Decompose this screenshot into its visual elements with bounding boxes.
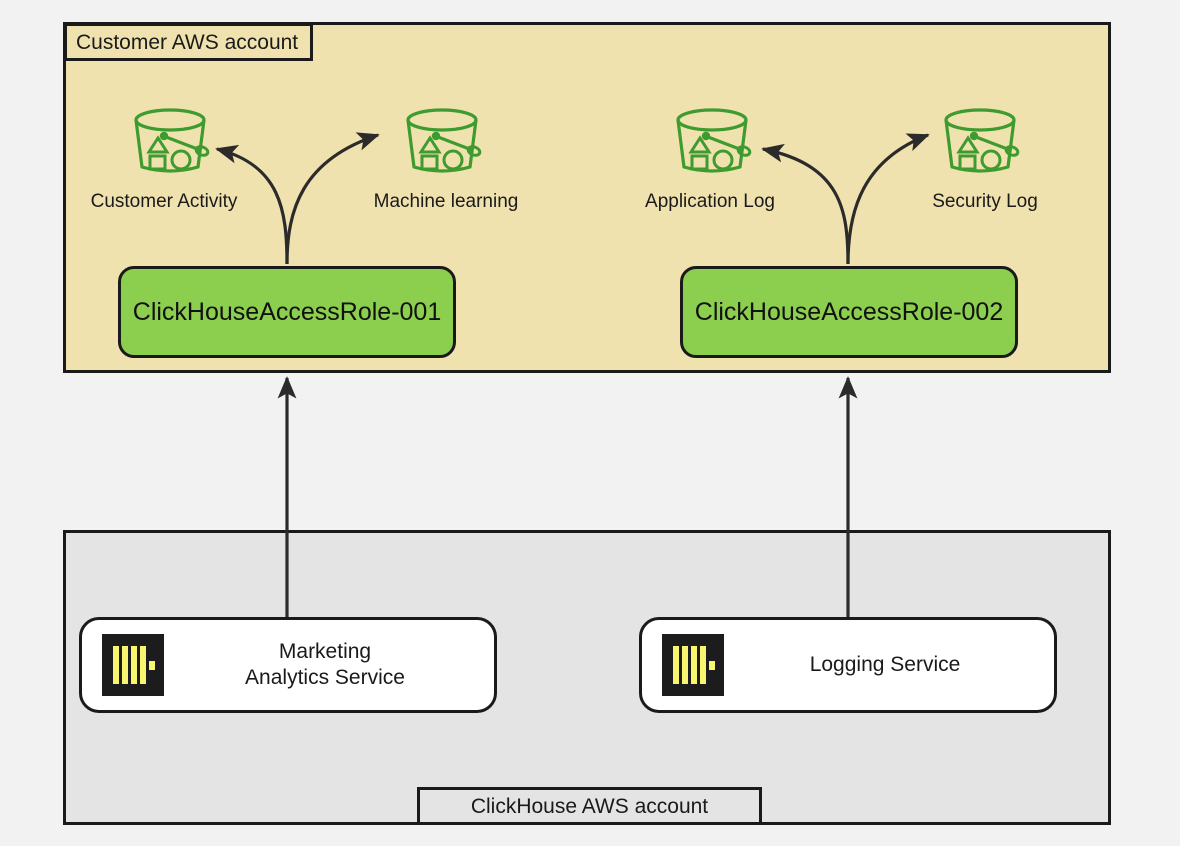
- s3-bucket-icon: [666, 105, 766, 177]
- s3-bucket-icon-customer-activity[interactable]: [124, 105, 224, 177]
- clickhouse-aws-account-title: ClickHouse AWS account: [417, 787, 762, 825]
- service-label: Marketing Analytics Service: [164, 639, 494, 690]
- clickhouse-aws-account-title-text: ClickHouse AWS account: [471, 796, 708, 817]
- s3-bucket-icon-application-log[interactable]: [666, 105, 766, 177]
- bucket-label-application-log: Application Log: [605, 192, 815, 211]
- s3-bucket-icon: [934, 105, 1034, 177]
- bucket-label-machine-learning: Machine learning: [321, 192, 571, 211]
- customer-aws-account-title: Customer AWS account: [64, 23, 313, 61]
- role-label: ClickHouseAccessRole-001: [133, 300, 441, 325]
- clickhouse-logo-icon: [662, 634, 724, 696]
- bucket-label-security-log: Security Log: [880, 192, 1090, 211]
- s3-bucket-icon-security-log[interactable]: [934, 105, 1034, 177]
- service-box-marketing-analytics[interactable]: Marketing Analytics Service: [79, 617, 497, 713]
- s3-bucket-icon: [124, 105, 224, 177]
- service-label: Logging Service: [724, 652, 1054, 678]
- clickhouse-logo-icon: [102, 634, 164, 696]
- customer-aws-account-title-text: Customer AWS account: [76, 32, 298, 53]
- service-box-logging[interactable]: Logging Service: [639, 617, 1057, 713]
- diagram-canvas: Customer Activity Machine learning Appli…: [0, 0, 1180, 846]
- role-label: ClickHouseAccessRole-002: [695, 300, 1003, 325]
- s3-bucket-icon-machine-learning[interactable]: [396, 105, 496, 177]
- bucket-label-customer-activity: Customer Activity: [54, 192, 274, 211]
- role-box-clickhouseaccessrole-002[interactable]: ClickHouseAccessRole-002: [680, 266, 1018, 358]
- s3-bucket-icon: [396, 105, 496, 177]
- role-box-clickhouseaccessrole-001[interactable]: ClickHouseAccessRole-001: [118, 266, 456, 358]
